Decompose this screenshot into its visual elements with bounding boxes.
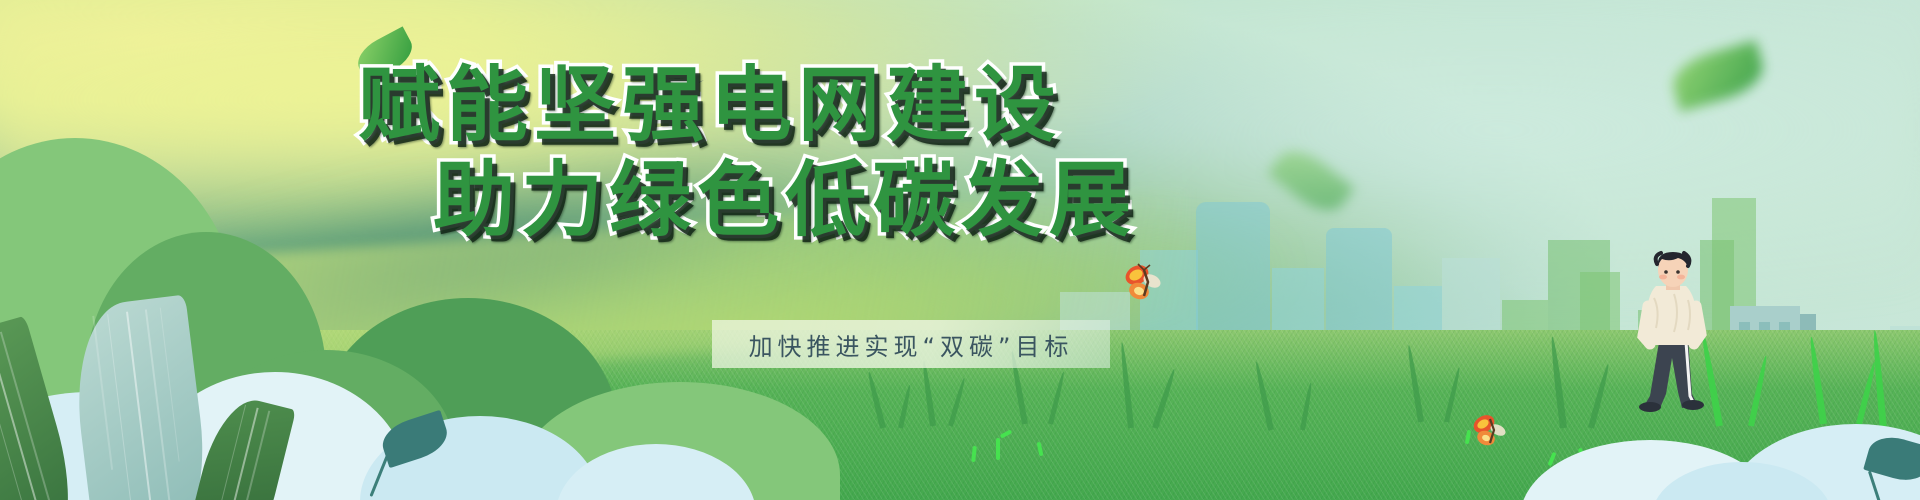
title-line-2: 助力绿色低碳发展 — [0, 153, 1420, 248]
title-block: 赋能坚强电网建设 助力绿色低碳发展 — [0, 58, 1420, 248]
walking-person — [1630, 250, 1716, 422]
subtitle: 加快推进实现“双碳”目标 — [712, 320, 1110, 368]
eco-power-grid-banner: 赋能坚强电网建设 助力绿色低碳发展 加快推进实现“双碳”目标 — [0, 0, 1920, 500]
butterfly-lower-icon — [1470, 412, 1512, 450]
butterfly-upper-icon — [1122, 262, 1168, 304]
leaf-vein — [0, 339, 27, 500]
leaf-vein — [145, 309, 171, 500]
title-line-1: 赋能坚强电网建设 — [0, 58, 1420, 153]
leaf-vein — [126, 312, 156, 500]
sprout — [996, 438, 1000, 460]
